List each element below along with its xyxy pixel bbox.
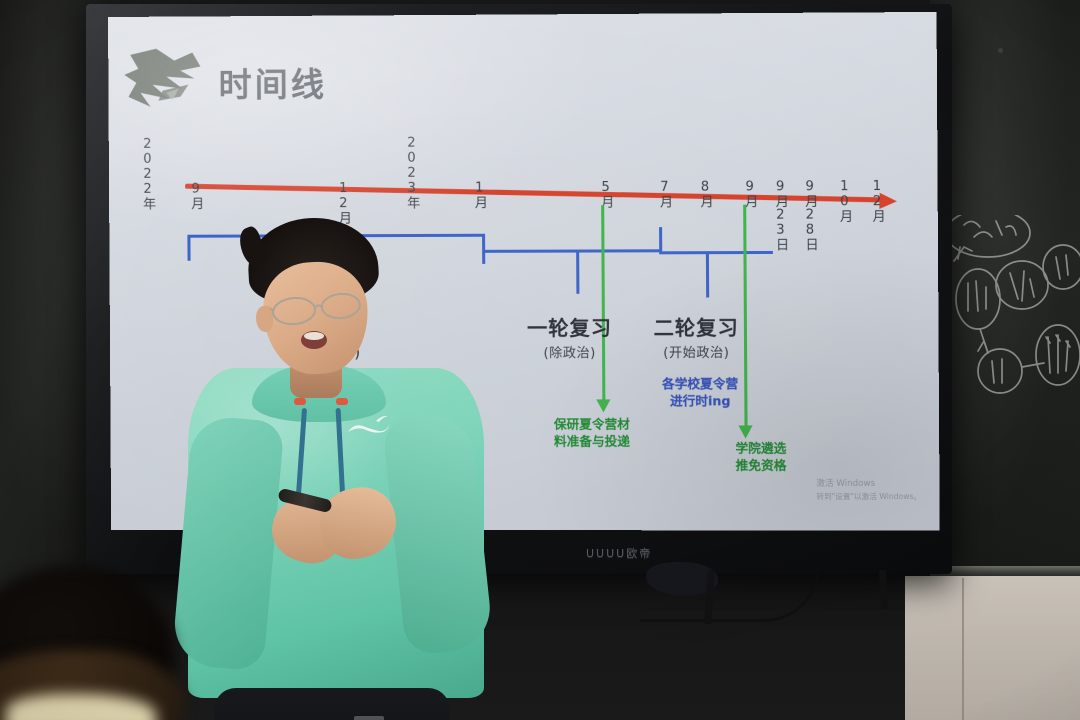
trousers-logo [354,716,384,720]
phase-title-1: 二轮复习 [653,312,738,341]
phase-title-0: 一轮复习 [527,312,612,341]
green-event-arrow-1-icon [596,399,610,412]
tick-label-12: 12月 [868,179,884,222]
display-cable [640,566,820,622]
blue-bracket-tick-mid-2 [706,251,709,297]
blue-bracket-tick-mid-1 [576,250,579,294]
puma-logo-icon [346,414,392,436]
lower-wall [905,576,1080,720]
tick-label-11: 10月 [836,179,852,222]
blue-bracket-tick-up [659,227,662,253]
presenter-drawstring-tip-left [294,398,306,405]
green-annotation-0-line-0: 保研夏令营材 [554,416,630,433]
windows-activation-watermark: 激活 Windows 转到"设置"以激活 Windows。 [816,478,921,502]
green-event-line-1 [601,205,605,402]
photo-scene: ᑌᑌᑌᑌ欧帝 时间线 2022年9月12月2023年1月5月7月8月9月9月23… [0,0,1080,720]
phase-subtitle-0: (除政治) [527,342,612,361]
green-annotation-1: 学院遴选推免资格 [735,441,786,474]
tick-label-4: 1月 [471,180,486,208]
green-event-arrow-2-icon [738,425,752,438]
phase-label-0: 一轮复习(除政治) [527,312,612,361]
presenter-person [186,218,486,720]
green-annotation-0: 保研夏令营材料准备与投递 [554,416,630,449]
tick-label-5: 5月 [597,180,612,208]
presenter-mouth [272,314,376,374]
tick-label-8: 9月 [741,179,756,207]
phase-subtitle-1: (开始政治) [654,342,739,361]
blue-annotation-0: 各学校夏令营进行时ing [662,376,738,409]
blue-annotation-0-line-0: 各学校夏令营 [662,376,738,393]
green-annotation-1-line-0: 学院遴选 [735,441,786,458]
power-led-indicator [998,48,1003,53]
green-event-line-2 [743,205,747,429]
green-annotation-0-line-1: 料准备与投递 [554,433,630,450]
chalk-mindmap-drawing [930,215,1080,405]
tick-label-10: 9月28日 [801,179,817,251]
tick-label-3: 2023年 [403,136,419,209]
tick-label-0: 2022年 [139,137,154,210]
tick-label-1: 9月 [187,182,202,210]
redacted-logo-icon [122,44,211,113]
wall-seam [962,578,964,720]
blue-bracket-span-2 [482,249,660,253]
blue-bracket-span-3 [659,251,773,254]
tick-label-7: 8月 [696,180,711,208]
presenter-trousers [214,688,450,720]
watermark-line-2: 转到"设置"以激活 Windows。 [816,491,921,502]
phase-label-1: 二轮复习(开始政治) [653,312,739,362]
green-annotation-1-line-1: 推免资格 [736,457,787,474]
presenter-drawstring-tip-right [336,398,348,405]
blue-annotation-0-line-1: 进行时ing [662,393,738,410]
watermark-line-1: 激活 Windows [816,478,921,491]
tick-label-6: 7月 [656,180,671,208]
display-brand-logo: ᑌᑌᑌᑌ欧帝 [586,545,652,561]
tick-label-9: 9月23日 [771,179,787,251]
slide-title: 时间线 [218,58,327,107]
